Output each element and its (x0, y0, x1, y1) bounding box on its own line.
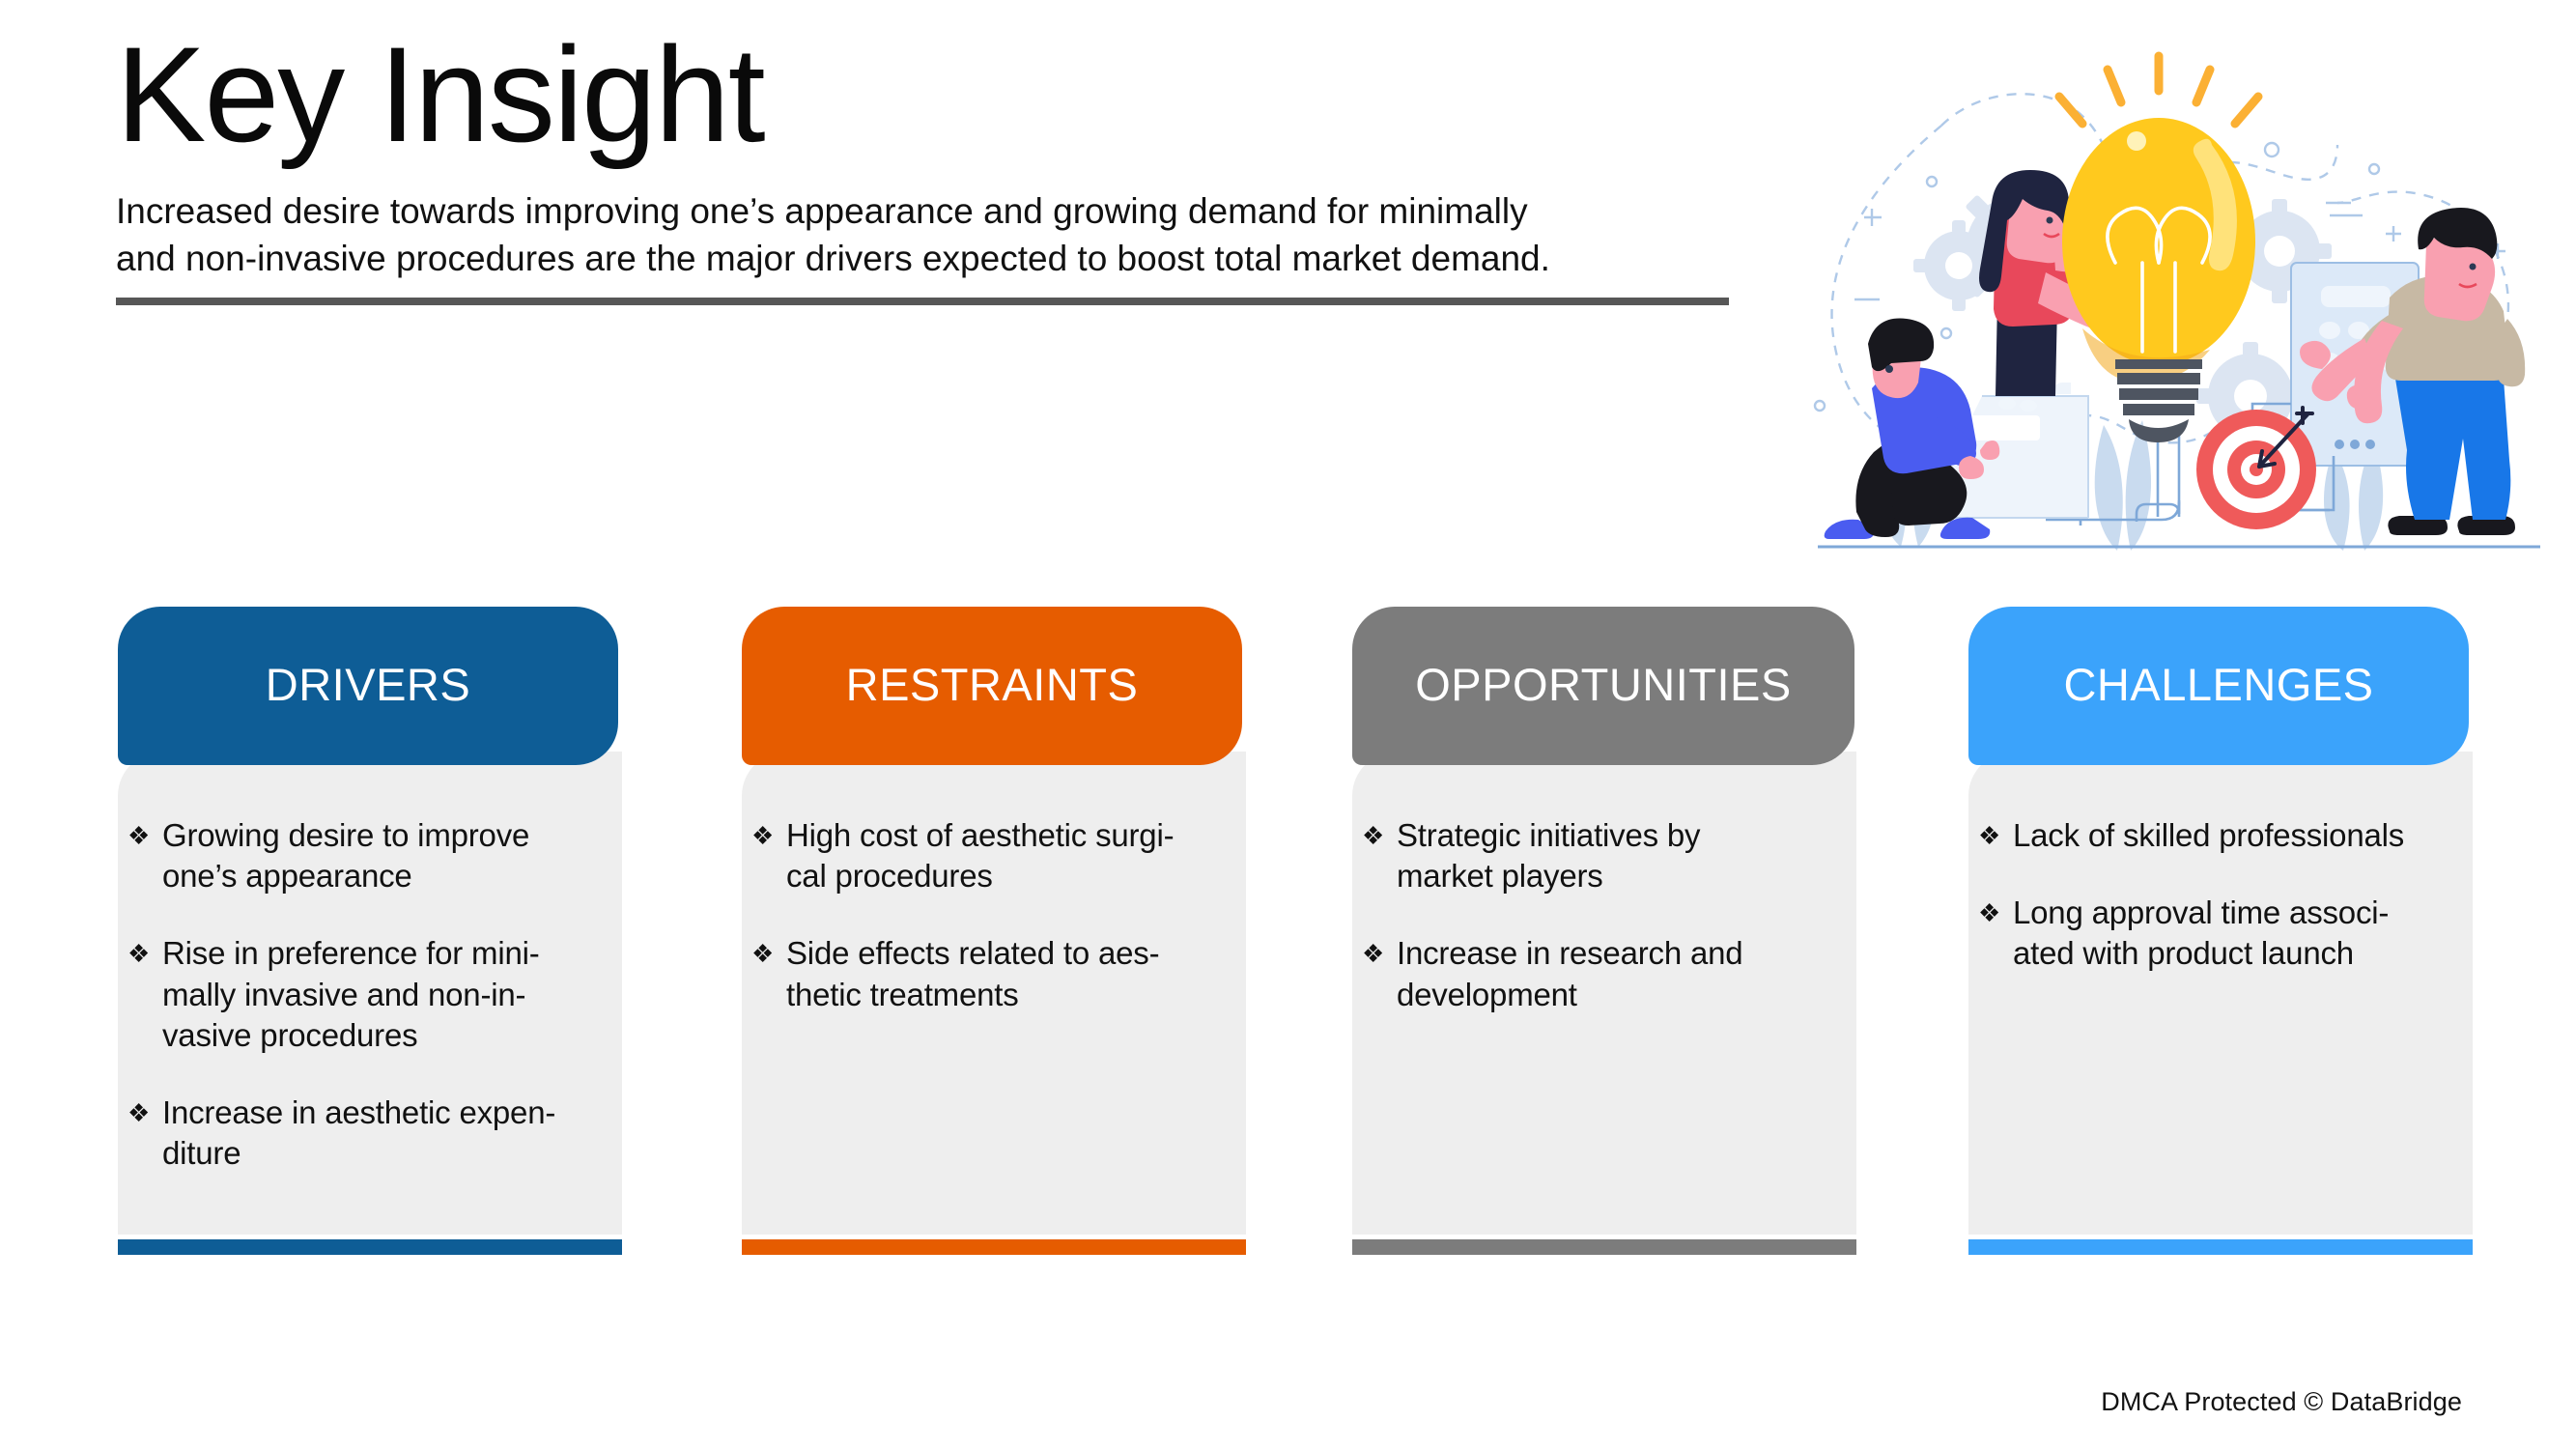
card-body-opportunities: ❖ Strategic initiatives by market player… (1352, 752, 1856, 1235)
bullet-list-restraints: ❖ High cost of aesthetic surgi- cal proc… (748, 815, 1236, 1052)
list-item-text: Increase in aesthetic expen- diture (162, 1093, 612, 1174)
card-body-drivers: ❖ Growing desire to improve one’s appear… (118, 752, 622, 1235)
dartboard-target (2196, 408, 2316, 529)
list-item-text: Side effects related to aes- thetic trea… (786, 933, 1236, 1014)
list-item-text: Rise in preference for mini- mally invas… (162, 933, 612, 1056)
card-accent-bar-restraints (742, 1239, 1246, 1255)
card-header-challenges[interactable]: CHALLENGES (1968, 607, 2469, 765)
card-accent-bar-challenges (1968, 1239, 2473, 1255)
card-body-restraints: ❖ High cost of aesthetic surgi- cal proc… (742, 752, 1246, 1235)
bullet-list-opportunities: ❖ Strategic initiatives by market player… (1358, 815, 1847, 1052)
list-item-text: Strategic initiatives by market players (1397, 815, 1847, 896)
page-subtitle: Increased desire towards improving one’s… (116, 187, 1739, 282)
list-item: ❖ Growing desire to improve one’s appear… (124, 815, 612, 896)
diamond-bullet-icon: ❖ (124, 1093, 162, 1174)
diamond-bullet-icon: ❖ (748, 815, 786, 896)
card-accent-bar-opportunities (1352, 1239, 1856, 1255)
list-item-text: Growing desire to improve one’s appearan… (162, 815, 612, 896)
card-accent-bar-drivers (118, 1239, 622, 1255)
diamond-bullet-icon: ❖ (1974, 893, 2013, 974)
card-header-opportunities[interactable]: OPPORTUNITIES (1352, 607, 1854, 765)
diamond-bullet-icon: ❖ (1358, 815, 1397, 896)
list-item-text: High cost of aesthetic surgi- cal proced… (786, 815, 1236, 896)
card-body-challenges: ❖ Lack of skilled professionals ❖ Long a… (1968, 752, 2473, 1235)
header-divider (116, 298, 1729, 305)
swot-cards-row: ❖ Growing desire to improve one’s appear… (0, 607, 2576, 1273)
list-item: ❖ Strategic initiatives by market player… (1358, 815, 1847, 896)
diamond-bullet-icon: ❖ (748, 933, 786, 1014)
diamond-bullet-icon: ❖ (124, 815, 162, 896)
dmca-footer: DMCA Protected © DataBridge (2101, 1387, 2462, 1417)
card-drivers[interactable]: ❖ Growing desire to improve one’s appear… (118, 607, 659, 1273)
page-header: Key Insight Increased desire towards imp… (116, 27, 1739, 305)
card-title: OPPORTUNITIES (1415, 662, 1792, 711)
page-title: Key Insight (116, 27, 1739, 162)
bullet-list-challenges: ❖ Lack of skilled professionals ❖ Long a… (1974, 815, 2463, 1011)
list-item: ❖ Rise in preference for mini- mally inv… (124, 933, 612, 1056)
card-opportunities[interactable]: ❖ Strategic initiatives by market player… (1352, 607, 1893, 1273)
card-restraints[interactable]: ❖ High cost of aesthetic surgi- cal proc… (742, 607, 1283, 1273)
diamond-bullet-icon: ❖ (1974, 815, 2013, 856)
list-item: ❖ Long approval time associ- ated with p… (1974, 893, 2463, 974)
list-item-text: Lack of skilled professionals (2013, 815, 2463, 856)
light-rays (2059, 56, 2258, 124)
list-item-text: Increase in research and development (1397, 933, 1847, 1014)
list-item: ❖ Increase in aesthetic expen- diture (124, 1093, 612, 1174)
card-title: DRIVERS (266, 662, 470, 711)
list-item: ❖ High cost of aesthetic surgi- cal proc… (748, 815, 1236, 896)
idea-teamwork-lightbulb-illustration (1797, 10, 2569, 560)
card-title: CHALLENGES (2063, 662, 2373, 711)
diamond-bullet-icon: ❖ (124, 933, 162, 1056)
list-item-text: Long approval time associ- ated with pro… (2013, 893, 2463, 974)
card-header-restraints[interactable]: RESTRAINTS (742, 607, 1242, 765)
list-item: ❖ Lack of skilled professionals (1974, 815, 2463, 856)
card-header-drivers[interactable]: DRIVERS (118, 607, 618, 765)
card-title: RESTRAINTS (846, 662, 1139, 711)
list-item: ❖ Side effects related to aes- thetic tr… (748, 933, 1236, 1014)
bullet-list-drivers: ❖ Growing desire to improve one’s appear… (124, 815, 612, 1211)
list-item: ❖ Increase in research and development (1358, 933, 1847, 1014)
diamond-bullet-icon: ❖ (1358, 933, 1397, 1014)
card-challenges[interactable]: ❖ Lack of skilled professionals ❖ Long a… (1968, 607, 2509, 1273)
